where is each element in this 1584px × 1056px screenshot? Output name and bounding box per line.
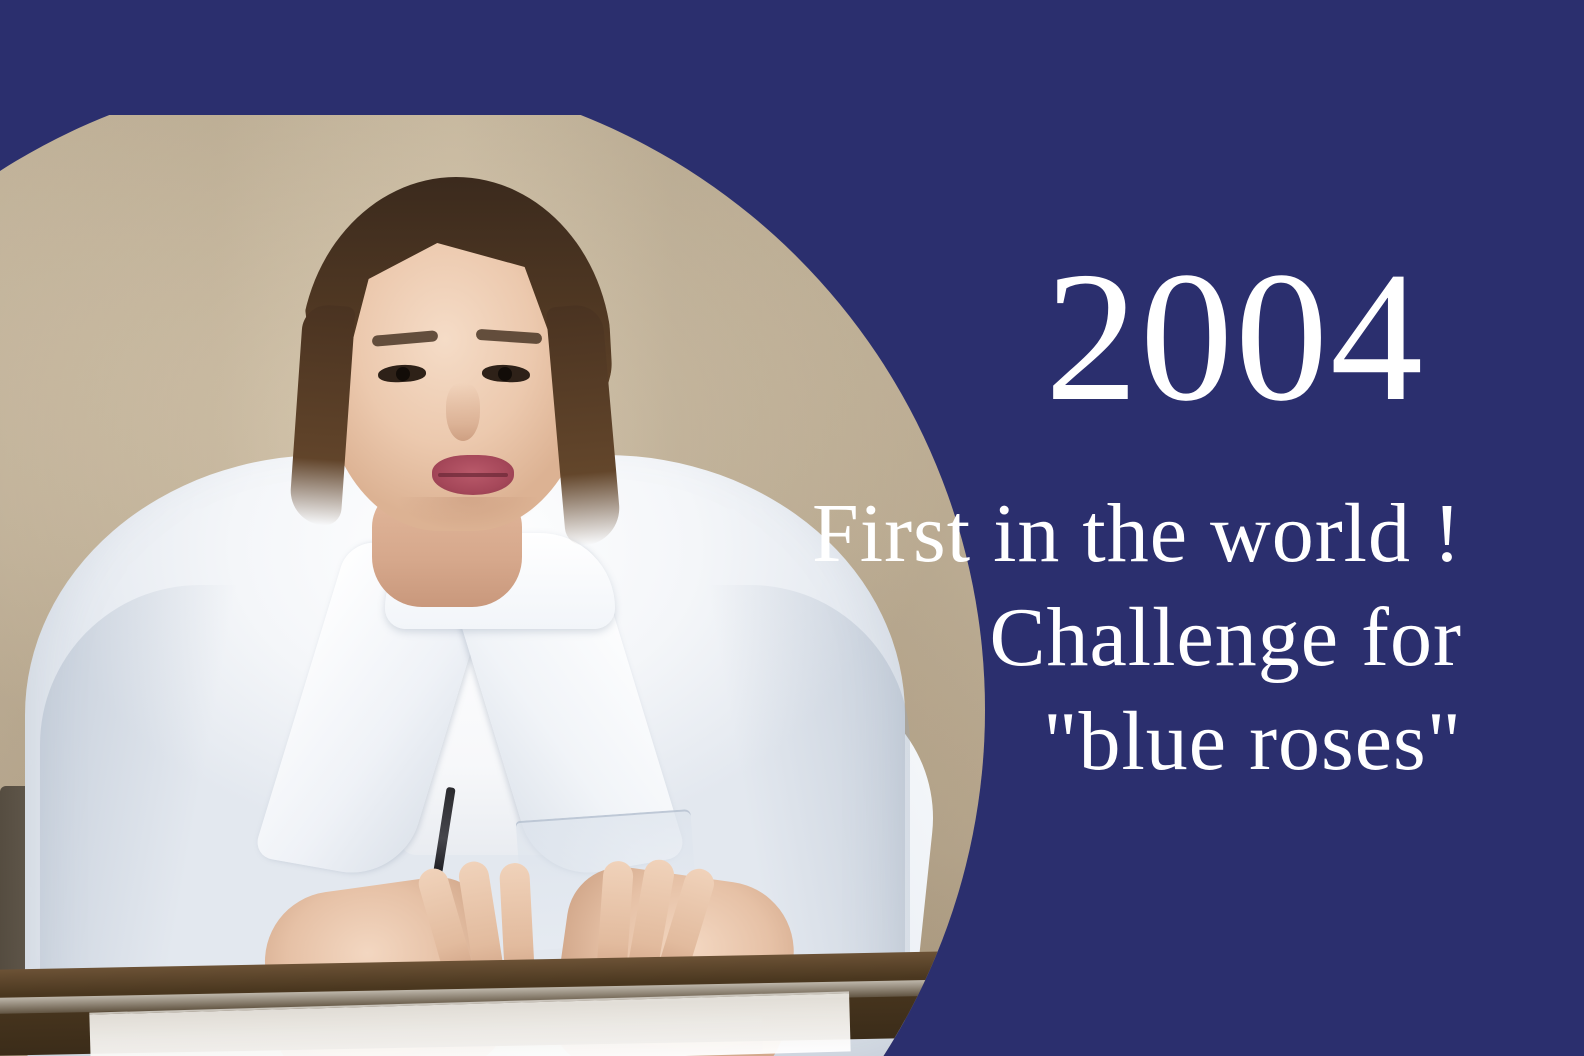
slide-canvas: 2004 First in the world ! Challenge for … [0, 0, 1584, 1056]
headline-line-1-text: First in the world ! [812, 487, 1462, 580]
headline-line-3-text: "blue roses" [1043, 695, 1462, 788]
headline-line-3: "blue roses" [0, 690, 1584, 794]
headline-line-2: Challenge for [0, 586, 1584, 690]
pupil-right [498, 367, 512, 381]
mouth-line [438, 473, 508, 477]
nose [446, 383, 480, 441]
pupil-left [396, 367, 410, 381]
headline-line-1: First in the world ! [0, 482, 1584, 586]
headline-block: First in the world ! Challenge for "blue… [0, 482, 1584, 794]
headline-line-2-text: Challenge for [990, 591, 1463, 684]
year-label: 2004 [1045, 244, 1425, 430]
